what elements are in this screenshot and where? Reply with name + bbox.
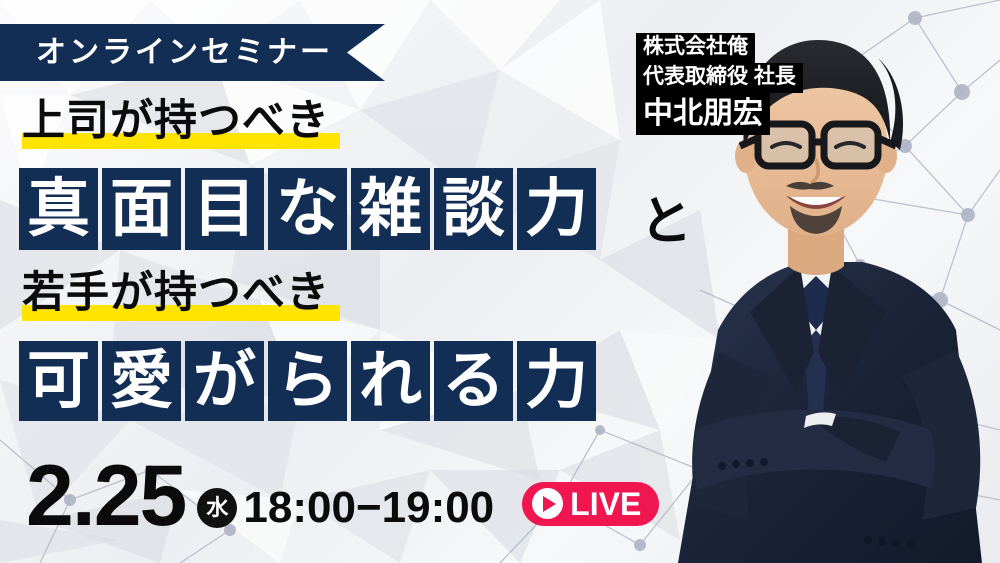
schedule-row: 2.25 水 18:00−19:00 LIVE	[26, 460, 659, 534]
tile-char: る	[434, 341, 513, 421]
play-triangle-icon	[532, 488, 563, 519]
ribbon-label: オンラインセミナー	[36, 38, 333, 68]
tile-char: 目	[185, 168, 264, 250]
lead-line-2-text: 若手が持つべき	[22, 269, 330, 317]
event-time: 18:00−19:00	[243, 486, 494, 530]
tile-char: 可	[19, 341, 98, 421]
tile-char: 雑	[351, 168, 430, 250]
speaker-name: 中北朋宏	[636, 93, 770, 135]
tile-row-2: 可 愛 が ら れ る 力	[19, 341, 596, 421]
seminar-banner: オンラインセミナー 株式会社俺 代表取締役 社長 中北朋宏 上司が持つべき 真 …	[0, 0, 1000, 563]
ribbon-banner: オンラインセミナー	[0, 24, 385, 81]
tile-char: れ	[351, 341, 430, 421]
speaker-credit: 株式会社俺 代表取締役 社長 中北朋宏	[636, 33, 803, 135]
tile-char: 愛	[102, 341, 181, 421]
tile-char: 力	[517, 341, 596, 421]
event-date: 2.25	[26, 460, 185, 534]
tile-char: が	[185, 341, 264, 421]
lead-line-1-text: 上司が持つべき	[22, 97, 330, 145]
tile-char: な	[268, 168, 347, 250]
day-of-week-badge: 水	[197, 488, 237, 528]
tile-char: ら	[268, 341, 347, 421]
tile-char: 真	[19, 168, 98, 250]
tile-char: 力	[517, 168, 596, 250]
lead-line-1: 上司が持つべき	[22, 100, 330, 143]
tile-char: 面	[102, 168, 181, 250]
tile-row-1: 真 面 目 な 雑 談 力	[19, 168, 596, 250]
lead-line-2: 若手が持つべき	[22, 272, 330, 315]
speaker-company: 株式会社俺	[636, 33, 755, 63]
speaker-role: 代表取締役 社長	[636, 63, 803, 93]
tile-char: 談	[434, 168, 513, 250]
